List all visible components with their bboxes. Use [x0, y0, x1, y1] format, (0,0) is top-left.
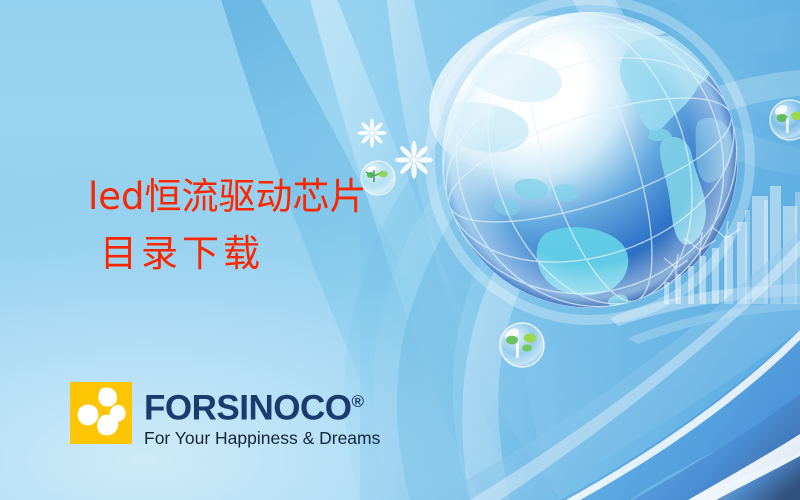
- pinwheel-flower-icon: [70, 382, 132, 444]
- headline-line-1: led恒流驱动芯片: [88, 175, 367, 218]
- brand-name: FORSINOCO®: [144, 384, 380, 426]
- brand-tagline: For Your Happiness & Dreams: [144, 428, 380, 448]
- brand-name-text: FORSINOCO: [144, 389, 351, 428]
- page-title: led恒流驱动芯片 目录下载: [88, 168, 367, 282]
- brand-logo[interactable]: FORSINOCO® For Your Happiness & Dreams: [70, 382, 380, 448]
- brand-logo-text: FORSINOCO® For Your Happiness & Dreams: [144, 382, 380, 448]
- banner-canvas: led恒流驱动芯片 目录下载 FORSINOCO® For Your Happi…: [0, 0, 800, 500]
- headline-line-2: 目录下载: [100, 225, 367, 282]
- registered-mark: ®: [351, 392, 364, 411]
